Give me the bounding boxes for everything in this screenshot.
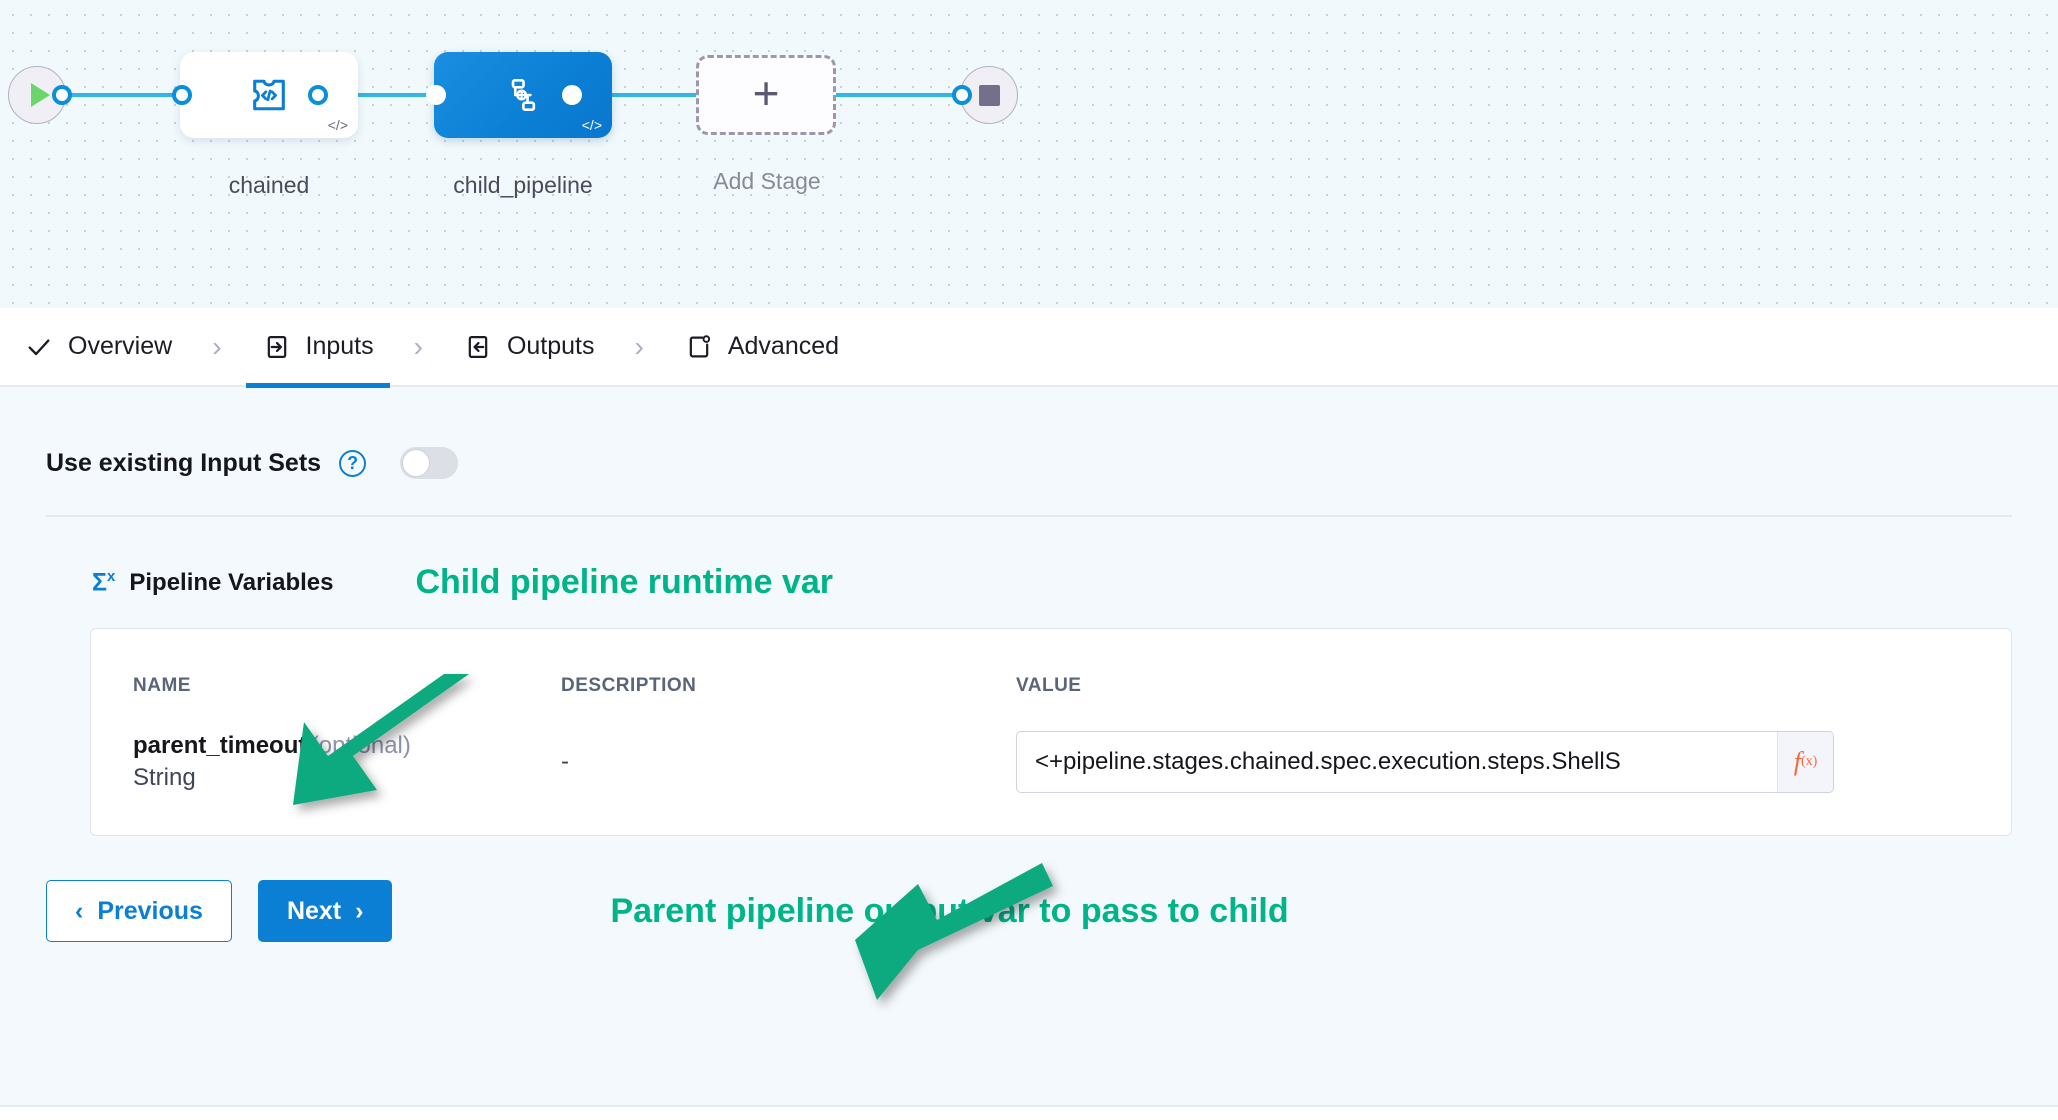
tab-outputs[interactable]: Outputs <box>447 307 611 386</box>
column-header-name: NAME <box>91 663 561 709</box>
use-existing-input-sets-row: Use existing Input Sets ? <box>0 389 2058 479</box>
sigma-x-icon: Σx <box>92 569 115 595</box>
tab-label-outputs: Outputs <box>507 332 595 361</box>
wizard-footer: ‹ Previous Next › Parent pipeline output… <box>0 836 2058 942</box>
variable-value-field[interactable]: <+pipeline.stages.chained.spec.execution… <box>1016 731 1834 793</box>
stage-label-chained: chained <box>180 172 358 199</box>
add-stage-button[interactable]: + <box>696 55 836 135</box>
pipeline-canvas-inner: </> chained </> child_pipeline + Add Sta… <box>0 0 2058 308</box>
tab-label-overview: Overview <box>68 332 172 361</box>
tab-overview[interactable]: Overview <box>8 307 188 386</box>
pipeline-canvas[interactable]: </> chained </> child_pipeline + Add Sta… <box>0 0 2058 308</box>
stage-chained-out-port[interactable] <box>308 85 328 105</box>
bottom-strip <box>0 1105 2058 1120</box>
variable-description: - <box>561 748 569 775</box>
previous-button[interactable]: ‹ Previous <box>46 880 232 942</box>
stage-config-tabs[interactable]: Overview › Inputs › Outputs › Ad <box>0 308 2058 387</box>
pipeline-variables-card: NAME DESCRIPTION VALUE parent_timeout (o… <box>90 628 2012 836</box>
custom-stage-icon <box>247 73 291 117</box>
use-existing-input-sets-toggle[interactable] <box>400 447 458 479</box>
chevron-right-icon: › <box>355 897 363 926</box>
plus-icon: + <box>753 70 780 116</box>
tab-advanced[interactable]: Advanced <box>668 307 855 386</box>
cell-variable-value: <+pipeline.stages.chained.spec.execution… <box>1016 709 2011 805</box>
code-badge-icon: </> <box>582 118 602 132</box>
stage-node-chained[interactable]: </> <box>180 52 358 138</box>
column-header-value: VALUE <box>1016 663 2011 709</box>
variable-value-input[interactable]: <+pipeline.stages.chained.spec.execution… <box>1017 732 1777 792</box>
start-node-port[interactable] <box>52 85 72 105</box>
check-icon <box>24 332 54 362</box>
import-icon <box>262 332 292 362</box>
tab-separator: › <box>390 331 447 363</box>
table-row: parent_timeout (optional) String - <+pip… <box>91 709 2011 805</box>
export-icon <box>463 332 493 362</box>
previous-button-label: Previous <box>97 897 203 926</box>
inputs-panel: Use existing Input Sets ? Σx Pipeline Va… <box>0 389 2058 1044</box>
tab-separator: › <box>611 331 668 363</box>
pipeline-variables-table: NAME DESCRIPTION VALUE parent_timeout (o… <box>91 663 2011 805</box>
connector-add-to-end <box>830 93 970 97</box>
column-header-description: DESCRIPTION <box>561 663 1016 709</box>
tab-separator: › <box>188 331 245 363</box>
stage-child-out-port[interactable] <box>562 85 582 105</box>
tab-inputs[interactable]: Inputs <box>246 307 390 386</box>
cell-variable-description: - <box>561 709 1016 805</box>
annotation-bottom: Parent pipeline output var to pass to ch… <box>610 892 1288 931</box>
variable-optional-badge: (optional) <box>311 732 411 759</box>
code-badge-icon: </> <box>328 118 348 132</box>
help-icon[interactable]: ? <box>339 450 366 477</box>
next-button[interactable]: Next › <box>258 880 393 942</box>
pipeline-chaining-icon <box>502 74 544 116</box>
stage-node-child-pipeline[interactable]: </> <box>434 52 612 138</box>
gear-doc-icon <box>684 332 714 362</box>
tab-label-inputs: Inputs <box>306 332 374 361</box>
end-node-port[interactable] <box>952 85 972 105</box>
stage-child-in-port[interactable] <box>426 85 446 105</box>
stage-chained-in-port[interactable] <box>172 85 192 105</box>
stop-icon <box>979 85 1000 106</box>
play-icon <box>31 83 50 107</box>
stage-label-add-stage: Add Stage <box>682 168 852 195</box>
variable-type: String <box>133 764 561 792</box>
pipeline-variables-title: Pipeline Variables <box>129 569 333 597</box>
use-existing-input-sets-label: Use existing Input Sets <box>46 449 321 478</box>
variable-name: parent_timeout <box>133 732 306 759</box>
cell-variable-name: parent_timeout (optional) String <box>91 709 561 805</box>
stage-label-child-pipeline: child_pipeline <box>434 172 612 199</box>
expression-fx-button[interactable]: f(x) <box>1777 732 1833 792</box>
toggle-knob <box>402 449 430 477</box>
pipeline-variables-header: Σx Pipeline Variables Child pipeline run… <box>0 517 2058 602</box>
table-header-row: NAME DESCRIPTION VALUE <box>91 663 2011 709</box>
tab-label-advanced: Advanced <box>728 332 839 361</box>
next-button-label: Next <box>287 897 341 926</box>
annotation-top: Child pipeline runtime var <box>415 563 833 602</box>
chevron-left-icon: ‹ <box>75 897 83 926</box>
